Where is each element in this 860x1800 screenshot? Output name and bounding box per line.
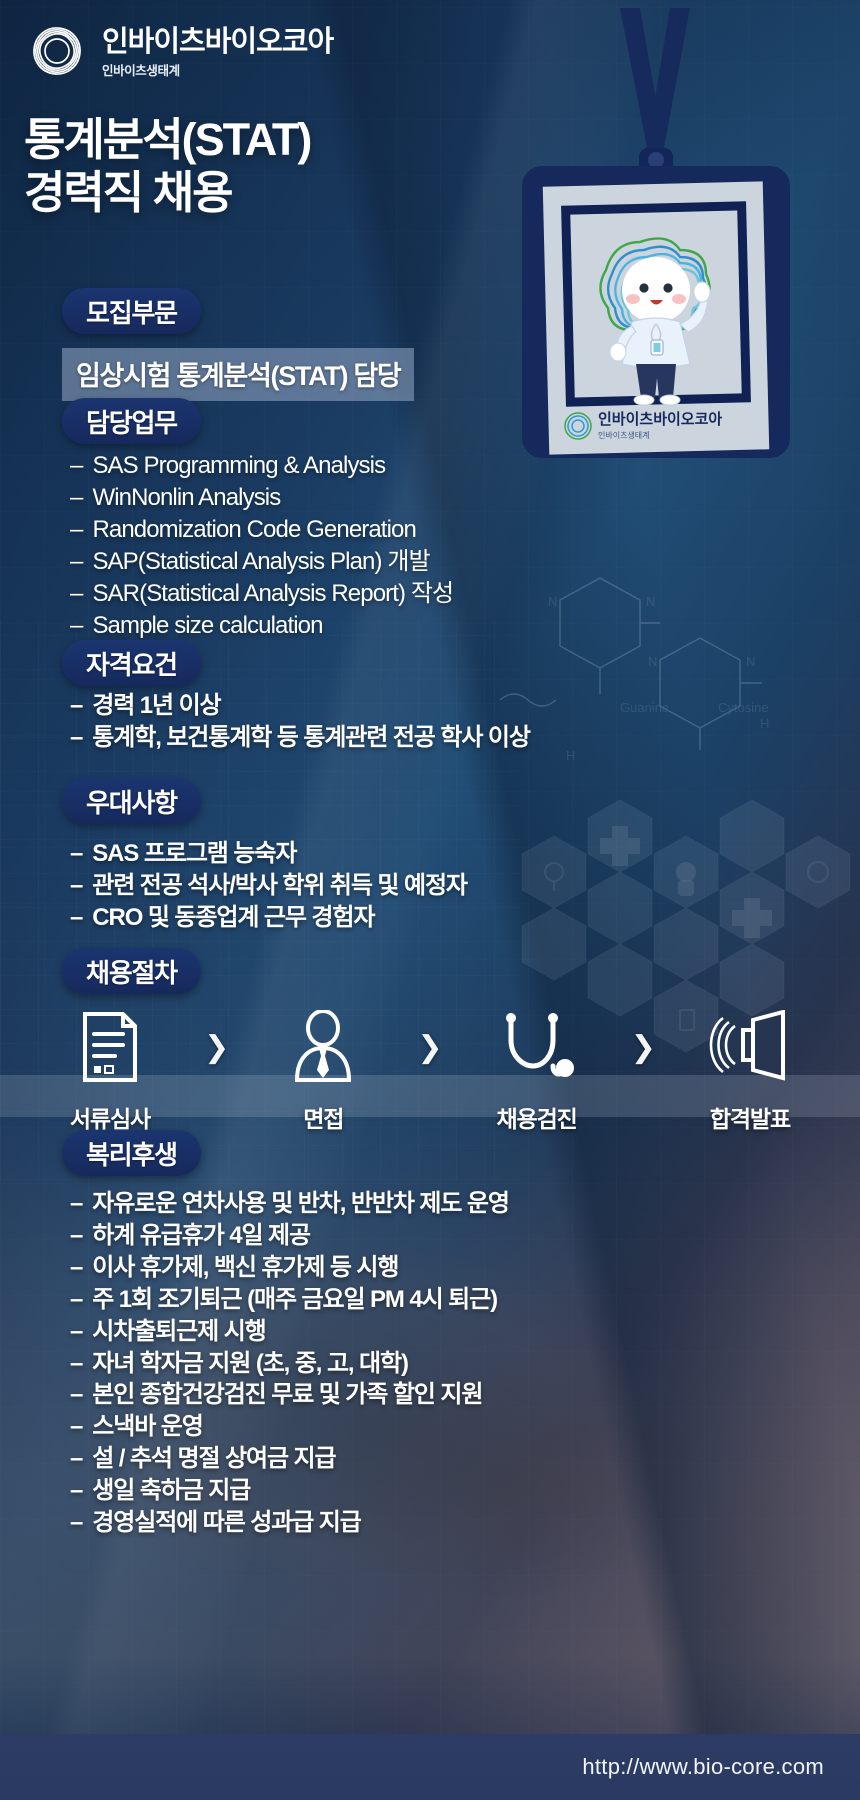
process-step-2 — [253, 1011, 393, 1083]
list-item: –스낵바 운영 — [70, 1411, 509, 1443]
list-item: –시차출퇴근제 시행 — [70, 1316, 509, 1348]
list-item: –CRO 및 동종업계 근무 경험자 — [70, 902, 467, 934]
list-item: –자녀 학자금 지원 (초, 중, 고, 대학) — [70, 1348, 509, 1380]
svg-text:인바이츠생태계: 인바이츠생태계 — [598, 430, 650, 440]
process-label-2: 면접 — [253, 1100, 393, 1134]
list-item: –자유로운 연차사용 및 반차, 반반차 제도 운영 — [70, 1188, 509, 1220]
document-review-icon — [79, 1011, 141, 1083]
list-item: –이사 휴가제, 백신 휴가제 등 시행 — [70, 1252, 509, 1284]
list-item: –SAS Programming & Analysis — [70, 450, 453, 482]
svg-text:Cytosine: Cytosine — [718, 700, 769, 715]
section-chip-preferred: 우대사항 — [62, 778, 201, 824]
preferred-list: –SAS 프로그램 능숙자 –관련 전공 석사/박사 학위 취득 및 예정자 –… — [70, 838, 467, 934]
process-step-4 — [680, 1011, 820, 1083]
person-interview-icon — [289, 1011, 357, 1083]
svg-text:N: N — [648, 654, 657, 669]
svg-text:H: H — [566, 748, 575, 763]
svg-text:Guanine: Guanine — [620, 700, 669, 715]
list-item: –SAS 프로그램 능숙자 — [70, 838, 467, 870]
company-name: 인바이츠바이오코아 — [102, 27, 333, 57]
svg-text:H: H — [760, 716, 769, 731]
process-arrow-2: ❯ — [412, 1030, 448, 1065]
process-label-3: 채용검진 — [467, 1100, 607, 1134]
company-logo-block: 인바이츠바이오코아 인바이츠생태계 — [26, 20, 333, 82]
list-item: –하계 유급휴가 4일 제공 — [70, 1220, 509, 1252]
website-url[interactable]: http://www.bio-core.com — [582, 1754, 860, 1780]
list-item: –SAP(Statistical Analysis Plan) 개발 — [70, 546, 453, 578]
stethoscope-health-check-icon — [495, 1011, 579, 1083]
process-label-1: 서류심사 — [40, 1100, 180, 1134]
list-item: –생일 축하금 지급 — [70, 1475, 509, 1507]
section-chip-process: 채용절차 — [62, 948, 201, 994]
svg-text:N: N — [646, 594, 655, 609]
svg-text:N: N — [548, 594, 557, 609]
list-item: –주 1회 조기퇴근 (매주 금요일 PM 4시 퇴근) — [70, 1284, 509, 1316]
position-highlight: 임상시험 통계분석(STAT) 담당 — [62, 348, 414, 401]
process-arrow-3: ❯ — [625, 1030, 661, 1065]
page-title-line1: 통계분석(STAT) — [24, 114, 310, 165]
section-chip-benefits: 복리후생 — [62, 1130, 201, 1176]
page-title: 통계분석(STAT) 경력직 채용 — [24, 113, 544, 219]
list-item: –WinNonlin Analysis — [70, 482, 453, 514]
process-step-1 — [40, 1011, 180, 1083]
company-tagline: 인바이츠생태계 — [102, 60, 333, 79]
process-step-3 — [467, 1011, 607, 1083]
list-item: –Sample size calculation — [70, 610, 453, 642]
id-badge-illustration: 인바이츠바이오코아 인바이츠생태계 — [494, 8, 824, 458]
list-item: –관련 전공 석사/박사 학위 취득 및 예정자 — [70, 870, 467, 902]
list-item: –본인 종합건강검진 무료 및 가족 할인 지원 — [70, 1379, 509, 1411]
svg-text:인바이츠바이오코아: 인바이츠바이오코아 — [598, 410, 722, 428]
process-arrow-1: ❯ — [199, 1030, 235, 1065]
list-item: –SAR(Statistical Analysis Report) 작성 — [70, 578, 453, 610]
benefits-list: –자유로운 연차사용 및 반차, 반반차 제도 운영 –하계 유급휴가 4일 제… — [70, 1188, 509, 1539]
list-item: –설 / 추석 명절 상여금 지급 — [70, 1443, 509, 1475]
section-chip-qualifications: 자격요건 — [62, 640, 201, 686]
list-item: –경력 1년 이상 — [70, 690, 530, 722]
page-title-line2: 경력직 채용 — [24, 166, 544, 219]
footer-bar: http://www.bio-core.com — [0, 1734, 860, 1800]
swirl-loop-logo-icon — [26, 20, 88, 82]
process-label-4: 합격발표 — [680, 1100, 820, 1134]
list-item: –Randomization Code Generation — [70, 514, 453, 546]
section-chip-duties: 담당업무 — [62, 398, 201, 444]
list-item: –경영실적에 따른 성과급 지급 — [70, 1507, 509, 1539]
list-item: –통계학, 보건통계학 등 통계관련 전공 학사 이상 — [70, 722, 530, 754]
qualifications-list: –경력 1년 이상 –통계학, 보건통계학 등 통계관련 전공 학사 이상 — [70, 690, 530, 754]
megaphone-announcement-icon — [707, 1011, 793, 1083]
recruitment-poster: NN NN HH GuanineCytosine 인바이츠바이오코아 인바이츠생… — [0, 0, 860, 1800]
section-chip-position: 모집부문 — [62, 288, 201, 334]
duties-list: –SAS Programming & Analysis –WinNonlin A… — [70, 450, 453, 641]
svg-text:N: N — [746, 654, 755, 669]
process-steps: ❯ ❯ — [40, 1002, 820, 1142]
